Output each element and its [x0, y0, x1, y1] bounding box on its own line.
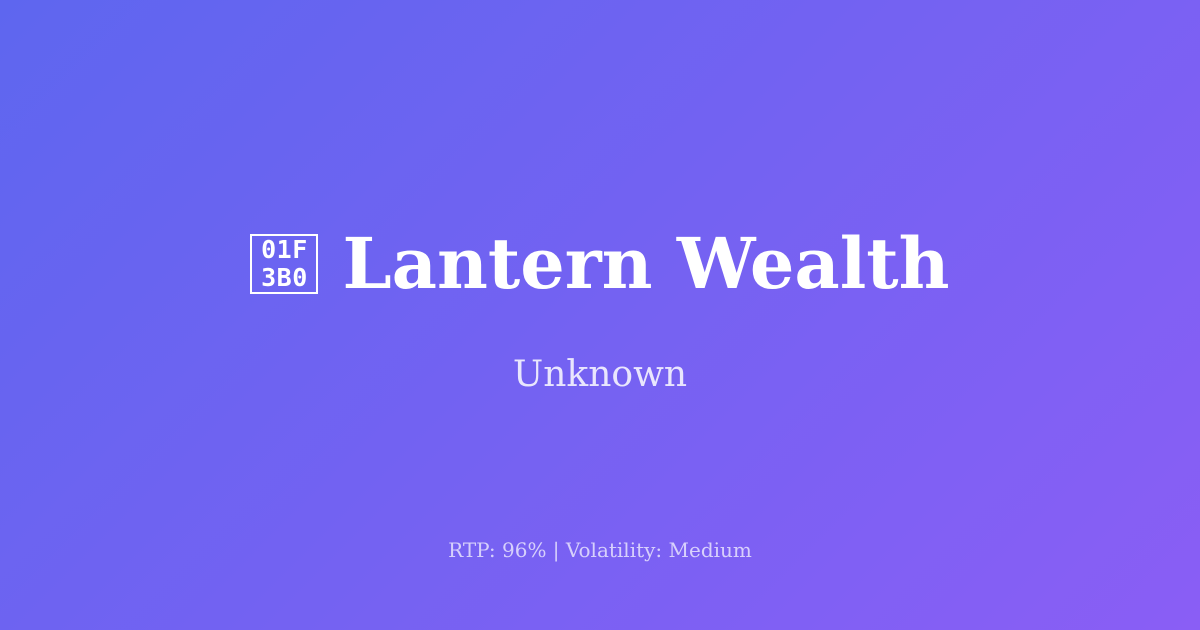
og-card: 01F 3B0 Lantern Wealth Unknown RTP: 96% … — [0, 0, 1200, 630]
provider-subtitle: Unknown — [513, 357, 687, 393]
slot-machine-icon-hex-bottom: 3B0 — [261, 264, 308, 292]
game-stats-footer: RTP: 96% | Volatility: Medium — [0, 540, 1200, 560]
slot-machine-icon: 01F 3B0 — [250, 234, 318, 294]
page-title: Lantern Wealth — [342, 229, 949, 299]
hero-row: 01F 3B0 Lantern Wealth — [250, 229, 949, 299]
slot-machine-icon-hex-top: 01F — [261, 236, 308, 264]
